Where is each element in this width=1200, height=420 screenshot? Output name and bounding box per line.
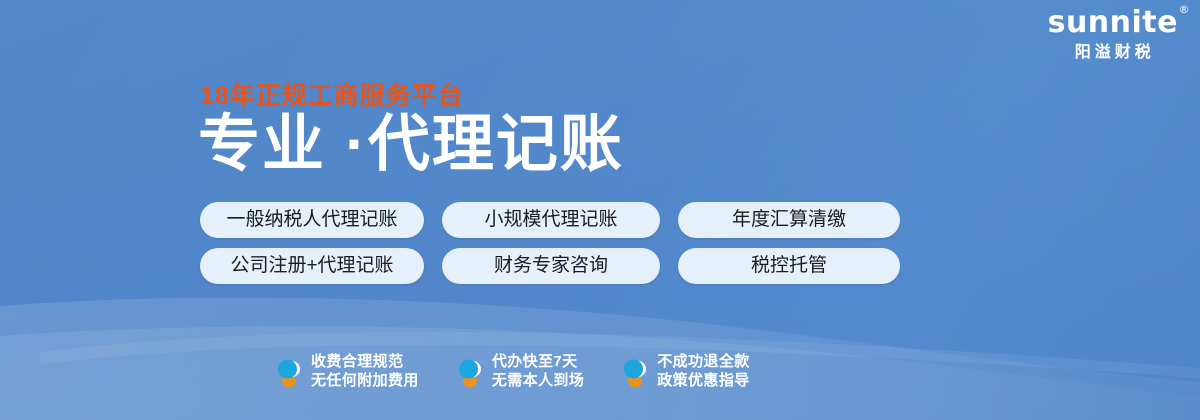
feature-item: 收费合理规范 无任何附加费用 bbox=[276, 352, 419, 390]
promo-banner: sunnite ® 阳溢财税 18年正规工商服务平台 专业 ·代理记账 一般纳税… bbox=[0, 0, 1200, 420]
service-pill-finance-expert-consulting[interactable]: 财务专家咨询 bbox=[442, 248, 660, 284]
feature-line-2: 政策优惠指导 bbox=[657, 371, 749, 390]
feature-line-1: 不成功退全款 bbox=[657, 352, 749, 371]
feature-list: 收费合理规范 无任何附加费用 代办快至7天 无需本人到场 bbox=[276, 352, 750, 390]
feature-line-1: 收费合理规范 bbox=[311, 352, 419, 371]
logo-chinese-name: 阳溢财税 bbox=[1048, 45, 1178, 61]
badge-check-icon bbox=[622, 354, 648, 388]
service-pill-company-registration-bookkeeping[interactable]: 公司注册+代理记账 bbox=[200, 248, 424, 284]
service-pill-small-scale-bookkeeping[interactable]: 小规模代理记账 bbox=[442, 202, 660, 238]
feature-text: 收费合理规范 无任何附加费用 bbox=[311, 352, 419, 390]
hero-tagline: 18年正规工商服务平台 bbox=[200, 76, 464, 112]
service-pill-row: 公司注册+代理记账 财务专家咨询 税控托管 bbox=[200, 248, 900, 284]
logo-wordmark: sunnite ® bbox=[1048, 8, 1178, 38]
service-pill-general-taxpayer-bookkeeping[interactable]: 一般纳税人代理记账 bbox=[200, 202, 424, 238]
feature-line-2: 无需本人到场 bbox=[492, 371, 584, 390]
registered-trademark-icon: ® bbox=[1179, 4, 1191, 15]
badge-check-icon bbox=[276, 354, 302, 388]
logo-wordmark-text: sunnite bbox=[1048, 5, 1178, 40]
badge-check-icon bbox=[457, 354, 483, 388]
feature-line-2: 无任何附加费用 bbox=[311, 371, 419, 390]
service-pill-tax-control-hosting[interactable]: 税控托管 bbox=[678, 248, 900, 284]
brand-logo: sunnite ® 阳溢财税 bbox=[1048, 8, 1178, 61]
feature-text: 代办快至7天 无需本人到场 bbox=[492, 352, 584, 390]
service-pill-annual-settlement[interactable]: 年度汇算清缴 bbox=[678, 202, 900, 238]
service-pill-row: 一般纳税人代理记账 小规模代理记账 年度汇算清缴 bbox=[200, 202, 900, 238]
feature-item: 不成功退全款 政策优惠指导 bbox=[622, 352, 749, 390]
hero-headline: 专业 ·代理记账 bbox=[198, 112, 624, 177]
service-pill-grid: 一般纳税人代理记账 小规模代理记账 年度汇算清缴 公司注册+代理记账 财务专家咨… bbox=[200, 202, 900, 294]
feature-item: 代办快至7天 无需本人到场 bbox=[457, 352, 584, 390]
feature-text: 不成功退全款 政策优惠指导 bbox=[657, 352, 749, 390]
feature-line-1: 代办快至7天 bbox=[492, 352, 584, 371]
